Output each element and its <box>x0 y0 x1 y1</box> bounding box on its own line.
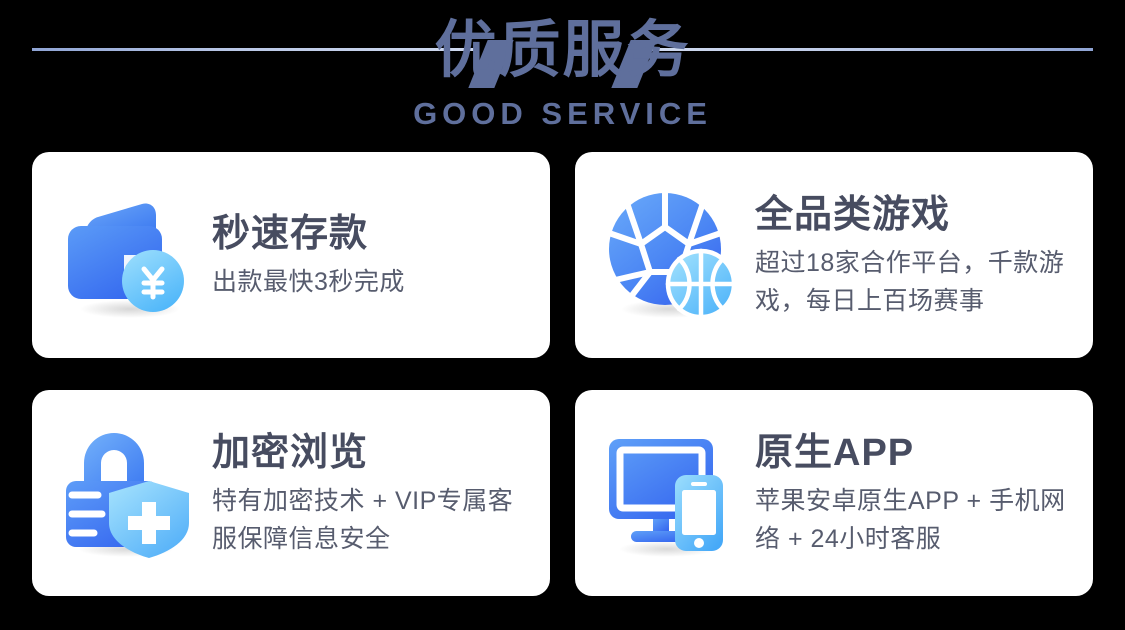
card-description: 苹果安卓原生APP + 手机网络 + 24小时客服 <box>755 482 1075 558</box>
card-description: 出款最快3秒完成 <box>212 263 532 301</box>
card-text-block: 秒速存款 出款最快3秒完成 <box>198 209 532 301</box>
wallet-yen-icon <box>58 185 198 325</box>
card-description: 超过18家合作平台，千款游戏，每日上百场赛事 <box>755 244 1075 320</box>
card-text-block: 加密浏览 特有加密技术 + VIP专属客服保障信息安全 <box>198 428 532 558</box>
card-text-block: 原生APP 苹果安卓原生APP + 手机网络 + 24小时客服 <box>741 428 1075 558</box>
card-title: 秒速存款 <box>212 209 532 259</box>
card-title: 原生APP <box>755 428 1075 478</box>
feature-card-grid: 秒速存款 出款最快3秒完成 <box>32 152 1093 596</box>
card-text-block: 全品类游戏 超过18家合作平台，千款游戏，每日上百场赛事 <box>741 190 1075 320</box>
page-title: 优质服务 <box>0 8 1125 92</box>
card-description: 特有加密技术 + VIP专属客服保障信息安全 <box>212 482 532 558</box>
feature-card-native-app[interactable]: 原生APP 苹果安卓原生APP + 手机网络 + 24小时客服 <box>575 390 1093 596</box>
page-subtitle: GOOD SERVICE <box>0 96 1125 132</box>
card-title: 加密浏览 <box>212 428 532 478</box>
feature-card-deposit[interactable]: 秒速存款 出款最快3秒完成 <box>32 152 550 358</box>
lock-shield-icon <box>58 423 198 563</box>
monitor-phone-icon <box>601 423 741 563</box>
feature-card-games[interactable]: 全品类游戏 超过18家合作平台，千款游戏，每日上百场赛事 <box>575 152 1093 358</box>
feature-card-encryption[interactable]: 加密浏览 特有加密技术 + VIP专属客服保障信息安全 <box>32 390 550 596</box>
page-header: 优质服务 GOOD SERVICE <box>0 0 1125 150</box>
soccer-basketball-icon <box>601 185 741 325</box>
card-title: 全品类游戏 <box>755 190 1075 240</box>
